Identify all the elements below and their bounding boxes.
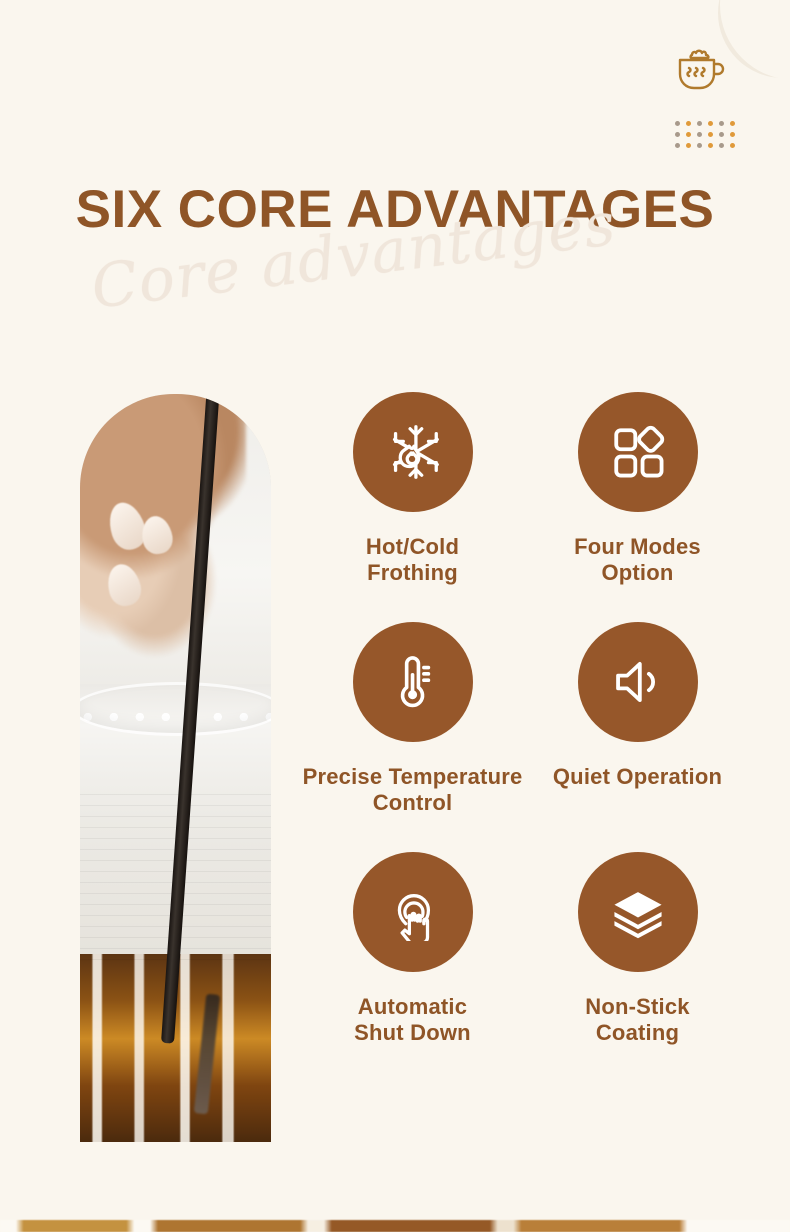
dot-grid-decoration	[672, 118, 738, 151]
feature-icon-badge	[578, 392, 698, 512]
feature-icon-badge	[578, 622, 698, 742]
feature-icon-badge	[353, 392, 473, 512]
snowflake-flame-icon	[382, 421, 444, 483]
dot-grid-dot	[708, 143, 713, 148]
feature-grid: Hot/Cold Frothing Four Modes Option	[300, 392, 750, 1082]
dot-grid-dot	[708, 121, 713, 126]
feature-label: Non-Stick Coating	[585, 994, 689, 1046]
feature-item-quiet-operation[interactable]: Quiet Operation	[525, 622, 750, 816]
feature-icon-badge	[578, 852, 698, 972]
dot-grid-dot	[697, 121, 702, 126]
speaker-quiet-icon	[609, 653, 667, 711]
dot-grid-dot	[697, 132, 702, 137]
dot-grid-dot	[730, 132, 735, 137]
four-modes-squares-icon	[609, 423, 667, 481]
coffee-cup-icon	[672, 40, 728, 100]
corner-accent-mask	[720, 0, 790, 80]
feature-row: Automatic Shut Down Non-Stick Coating	[300, 852, 750, 1046]
feature-item-four-modes-option[interactable]: Four Modes Option	[525, 392, 750, 586]
feature-icon-badge	[353, 622, 473, 742]
hand-tap-icon	[384, 883, 442, 941]
dot-grid-dot	[686, 121, 691, 126]
feature-row: Precise Temperature Control Quiet Operat…	[300, 622, 750, 816]
feature-label: Automatic Shut Down	[354, 994, 471, 1046]
dot-grid-dot	[675, 132, 680, 137]
dot-grid-dot	[719, 121, 724, 126]
layers-stack-icon	[609, 883, 667, 941]
feature-icon-badge	[353, 852, 473, 972]
photo-glass-rim	[80, 682, 271, 736]
dot-grid-dot	[730, 121, 735, 126]
dot-grid-dot	[719, 132, 724, 137]
feature-label: Four Modes Option	[574, 534, 701, 586]
dot-grid-dot	[697, 143, 702, 148]
product-photo	[80, 394, 271, 1142]
feature-item-automatic-shut-down[interactable]: Automatic Shut Down	[300, 852, 525, 1046]
dot-grid-dot	[719, 143, 724, 148]
dot-grid-dot	[686, 132, 691, 137]
bottom-fade	[0, 1194, 790, 1220]
dot-grid-dot	[675, 121, 680, 126]
advantages-page: SIX CORE ADVANTAGES Core advantages	[0, 0, 790, 1232]
feature-item-non-stick-coating[interactable]: Non-Stick Coating	[525, 852, 750, 1046]
dot-grid-dot	[708, 132, 713, 137]
feature-label: Precise Temperature Control	[303, 764, 523, 816]
next-section-bleed	[0, 1220, 790, 1232]
feature-label: Quiet Operation	[553, 764, 722, 790]
dot-grid-dot	[730, 143, 735, 148]
feature-item-hot-cold-frothing[interactable]: Hot/Cold Frothing	[300, 392, 525, 586]
feature-label: Hot/Cold Frothing	[366, 534, 459, 586]
feature-row: Hot/Cold Frothing Four Modes Option	[300, 392, 750, 586]
dot-grid-dot	[675, 143, 680, 148]
thermometer-icon	[384, 653, 442, 711]
feature-item-precise-temperature-control[interactable]: Precise Temperature Control	[300, 622, 525, 816]
dot-grid-dot	[686, 143, 691, 148]
